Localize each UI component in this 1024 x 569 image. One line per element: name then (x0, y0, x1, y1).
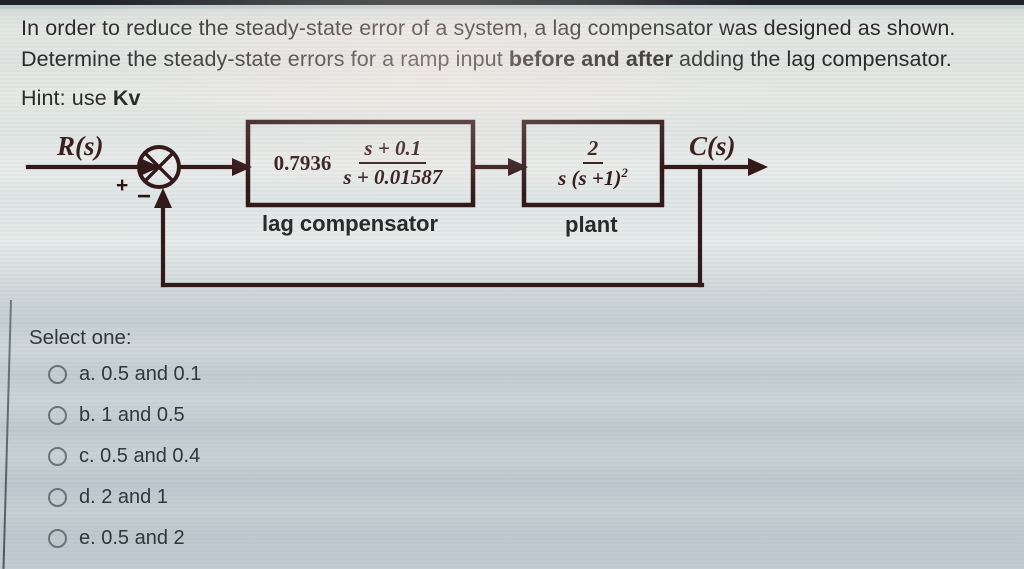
summing-plus-sign: + (116, 174, 128, 198)
radio-button-b[interactable] (48, 406, 67, 425)
radio-button-a[interactable] (48, 365, 67, 384)
lag-compensator-fraction: s + 0.1 s + 0.01587 (338, 137, 447, 189)
lag-compensator-denominator: s + 0.01587 (338, 164, 447, 190)
plant-transfer-function: 2 s (s +1)2 (526, 124, 660, 203)
radio-button-e[interactable] (48, 529, 67, 548)
output-arrowhead (748, 158, 768, 176)
plant-denominator: s (s +1)2 (553, 164, 633, 191)
summing-minus-sign: − (137, 183, 151, 211)
block-diagram (0, 110, 1024, 320)
plant-numerator: 2 (583, 137, 604, 164)
question-line-2: Determine the steady-state errors for a … (21, 47, 952, 72)
plant-denominator-exponent: 2 (621, 165, 628, 180)
lag-compensator-gain: 0.7936 (274, 151, 332, 176)
question-line-1: In order to reduce the steady-state erro… (21, 16, 955, 41)
option-d-label: d. 2 and 1 (79, 486, 168, 509)
option-d[interactable]: d. 2 and 1 (48, 486, 168, 509)
hint-bold: Kv (113, 86, 141, 110)
photo-edge-artifact (2, 300, 12, 569)
option-a[interactable]: a. 0.5 and 0.1 (48, 363, 201, 386)
radio-button-d[interactable] (48, 488, 67, 507)
plant-caption: plant (565, 212, 618, 238)
feedback-arrowhead (154, 188, 172, 208)
lag-compensator-transfer-function: 0.7936 s + 0.1 s + 0.01587 (250, 124, 471, 203)
input-signal-label: R(s) (57, 131, 104, 162)
hint-pre: Hint: use (21, 86, 113, 110)
question-hint: Hint: use Kv (21, 86, 141, 111)
option-a-label: a. 0.5 and 0.1 (79, 363, 201, 386)
radio-button-c[interactable] (48, 447, 67, 466)
option-e-label: e. 0.5 and 2 (79, 527, 185, 550)
input-arrowhead (140, 158, 160, 176)
option-e[interactable]: e. 0.5 and 2 (48, 527, 185, 550)
lag-compensator-numerator: s + 0.1 (359, 137, 426, 164)
option-c[interactable]: c. 0.5 and 0.4 (48, 445, 200, 468)
question-line-2-post: adding the lag compensator. (673, 47, 952, 71)
option-c-label: c. 0.5 and 0.4 (79, 445, 200, 468)
option-b-label: b. 1 and 0.5 (79, 404, 185, 427)
question-line-2-pre: Determine the steady-state errors for a … (21, 47, 509, 71)
plant-denominator-main: s (s +1) (558, 166, 621, 190)
select-one-prompt: Select one: (29, 326, 132, 350)
plant-fraction: 2 s (s +1)2 (553, 137, 633, 190)
question-line-2-bold: before and after (509, 47, 673, 71)
question-page: In order to reduce the steady-state erro… (0, 0, 1024, 569)
option-b[interactable]: b. 1 and 0.5 (48, 404, 185, 427)
output-signal-label: C(s) (689, 131, 736, 162)
lag-compensator-caption: lag compensator (262, 211, 438, 237)
